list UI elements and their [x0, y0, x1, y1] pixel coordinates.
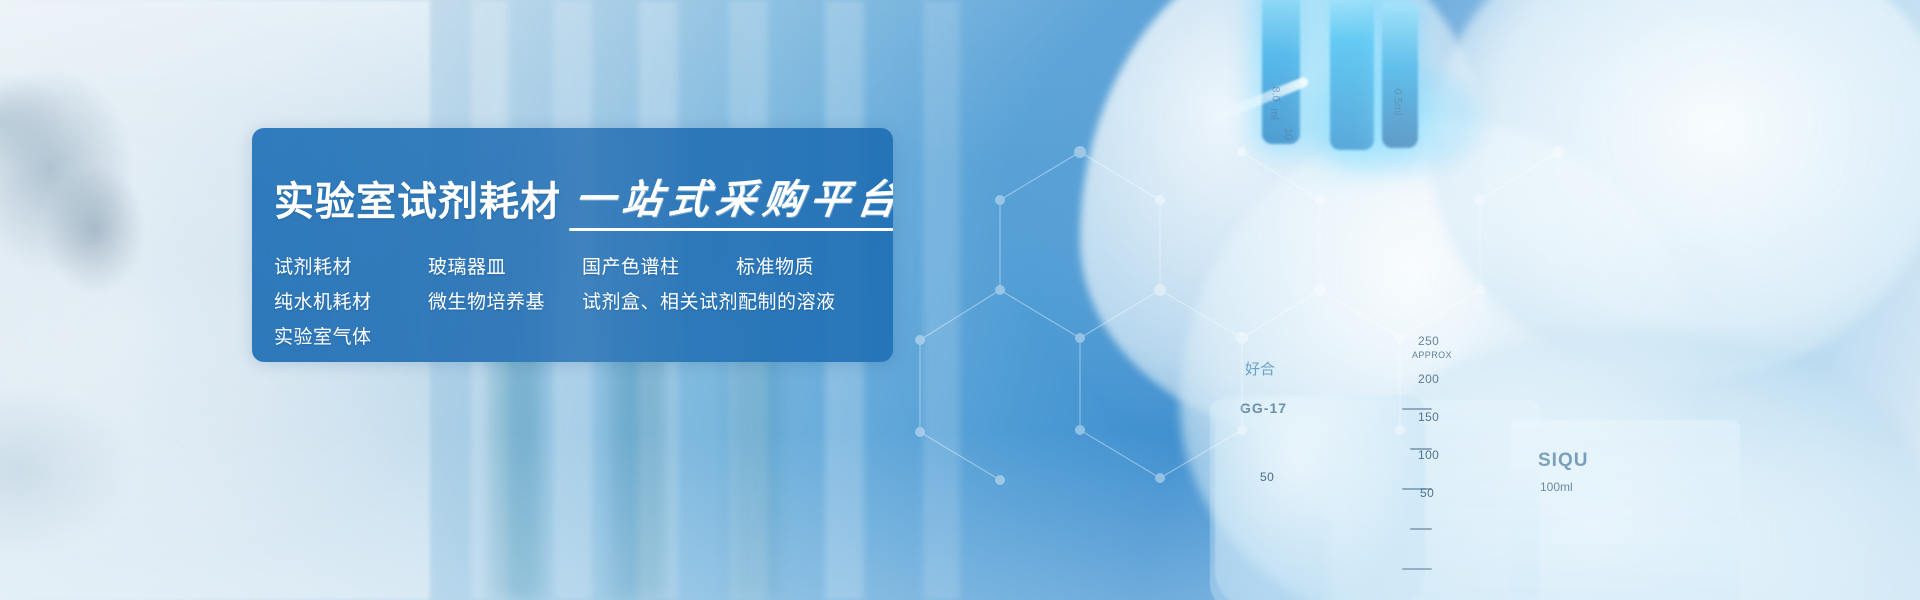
hero-title-underline [569, 228, 893, 231]
hero-title-script: 一站式采购平台 [573, 180, 893, 220]
category-link-water-purifier-consumables[interactable]: 纯水机耗材 [274, 287, 428, 314]
hero-title: 实验室试剂耗材 一站式采购平台 [274, 166, 893, 222]
category-row: 试剂耗材 玻璃器皿 国产色谱柱 标准物质 [274, 248, 893, 283]
hero-content-card: 实验室试剂耗材 一站式采购平台 试剂耗材 玻璃器皿 国产色谱柱 标准物质 纯水机… [252, 128, 893, 362]
category-link-domestic-chromatography-column[interactable]: 国产色谱柱 [582, 252, 736, 279]
category-link-reagent-kits-solutions[interactable]: 试剂盒、相关试剂配制的溶液 [582, 287, 836, 314]
category-link-reference-materials[interactable]: 标准物质 [736, 252, 814, 279]
category-link-laboratory-gases[interactable]: 实验室气体 [274, 322, 372, 349]
category-link-glassware[interactable]: 玻璃器皿 [428, 252, 582, 279]
category-link-microbial-culture-media[interactable]: 微生物培养基 [428, 287, 582, 314]
category-link-list: 试剂耗材 玻璃器皿 国产色谱柱 标准物质 纯水机耗材 微生物培养基 试剂盒、相关… [274, 248, 893, 353]
category-link-reagent-consumables[interactable]: 试剂耗材 [274, 252, 428, 279]
category-row: 实验室气体 [274, 318, 893, 353]
molecular-structure-overlay [850, 40, 1670, 560]
hero-title-main: 实验室试剂耗材 [274, 182, 561, 222]
lab-supplies-hero-banner: 8.0 ml 10 0.5ml 250 APPROX 200 150 100 5… [0, 0, 1920, 600]
hero-title-script-wrap: 一站式采购平台 [575, 180, 893, 222]
category-row: 纯水机耗材 微生物培养基 试剂盒、相关试剂配制的溶液 [274, 283, 893, 318]
